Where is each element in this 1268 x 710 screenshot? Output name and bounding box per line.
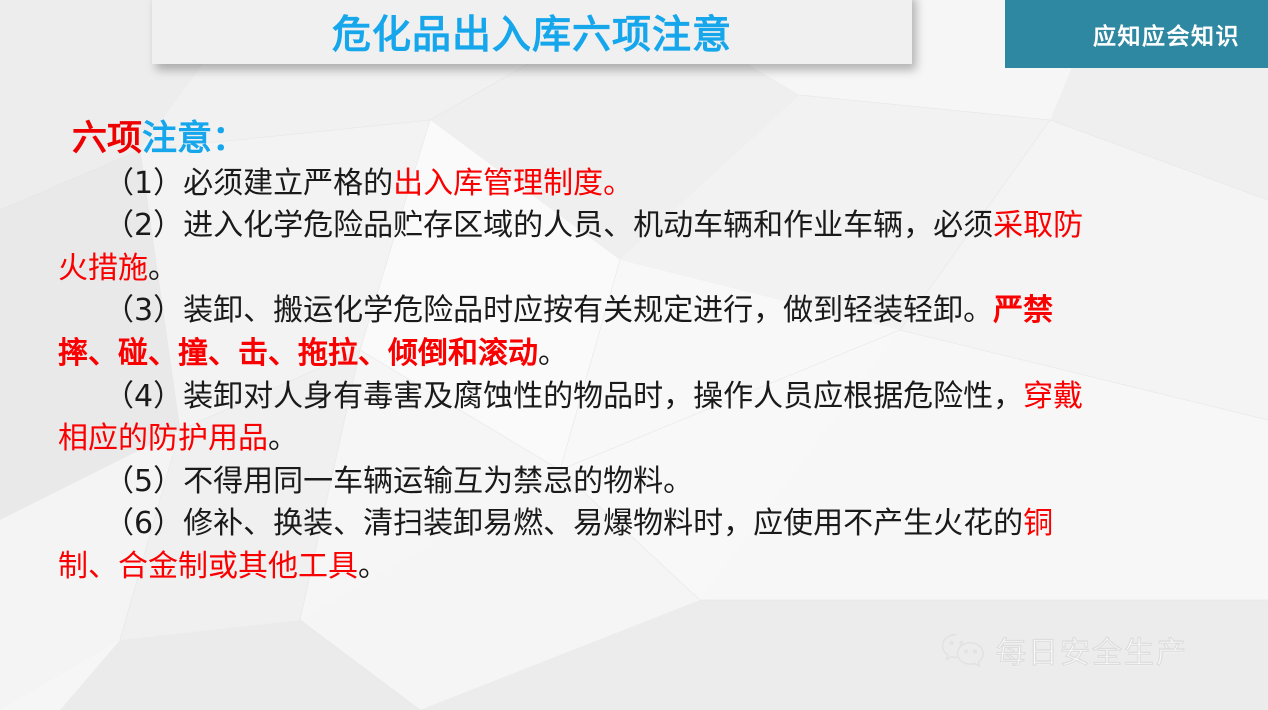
list-item-text-segment: 装卸对人身有毒害及腐蚀性的物品时，操作人员应根据危险性， [183, 379, 1023, 414]
corner-badge-label: 应知应会知识 [1093, 17, 1268, 51]
list-item-text-segment: 。 [268, 421, 298, 456]
list-item: （6）修补、换装、清扫装卸易燃、易爆物料时，应使用不产生火花的铜制、合金制或其他… [0, 503, 1268, 588]
watermark-label: 每日安全生产 [996, 628, 1188, 672]
list-item-text-segment: 必须建立严格的 [183, 166, 393, 201]
list-item-number: （6） [104, 506, 183, 541]
list-item: （3）装卸、搬运化学危险品时应按有关规定进行，做到轻装轻卸。严禁摔、碰、撞、击、… [0, 290, 1268, 375]
list-item-text-segment: 修补、换装、清扫装卸易燃、易爆物料时，应使用不产生火花的 [183, 506, 1023, 541]
list-item: （5）不得用同一车辆运输互为禁忌的物料。 [0, 461, 1268, 504]
list-item-text-segment: 。 [148, 251, 178, 286]
list-item-number: （4） [104, 379, 183, 414]
list-item-number: （5） [104, 464, 183, 499]
list-item-text-segment: 装卸、搬运化学危险品时应按有关规定进行，做到轻装轻卸。 [183, 293, 993, 328]
watermark: 每日安全生产 [940, 628, 1188, 672]
slide-canvas: 危化品出入库六项注意 应知应会知识 六项注意： （1）必须建立严格的出入库管理制… [0, 0, 1268, 710]
list-item-number: （2） [104, 208, 183, 243]
list-item-text-segment: 出入库管理制度。 [393, 166, 633, 201]
corner-badge: 应知应会知识 [1005, 0, 1268, 68]
list-item-number: （1） [104, 166, 183, 201]
section-heading-blue: 注意： [142, 119, 247, 159]
list-item: （1）必须建立严格的出入库管理制度。 [0, 163, 1268, 206]
slide-body: 六项注意： （1）必须建立严格的出入库管理制度。（2）进入化学危险品贮存区域的人… [0, 118, 1268, 589]
slide-title-plate: 危化品出入库六项注意 [152, 0, 912, 64]
numbered-item-list: （1）必须建立严格的出入库管理制度。（2）进入化学危险品贮存区域的人员、机动车辆… [0, 163, 1268, 589]
section-heading-red: 六项 [72, 119, 142, 159]
list-item-text-segment: 。 [358, 549, 388, 584]
list-item: （4）装卸对人身有毒害及腐蚀性的物品时，操作人员应根据危险性，穿戴相应的防护用品… [0, 376, 1268, 461]
list-item-text-segment: 不得用同一车辆运输互为禁忌的物料。 [183, 464, 693, 499]
wechat-icon [940, 630, 986, 670]
list-item-text-segment: 。 [538, 336, 568, 371]
list-item-number: （3） [104, 293, 183, 328]
section-heading: 六项注意： [0, 118, 1268, 161]
page-title: 危化品出入库六项注意 [152, 4, 912, 60]
list-item: （2）进入化学危险品贮存区域的人员、机动车辆和作业车辆，必须采取防火措施。 [0, 205, 1268, 290]
list-item-text-segment: 进入化学危险品贮存区域的人员、机动车辆和作业车辆，必须 [183, 208, 993, 243]
